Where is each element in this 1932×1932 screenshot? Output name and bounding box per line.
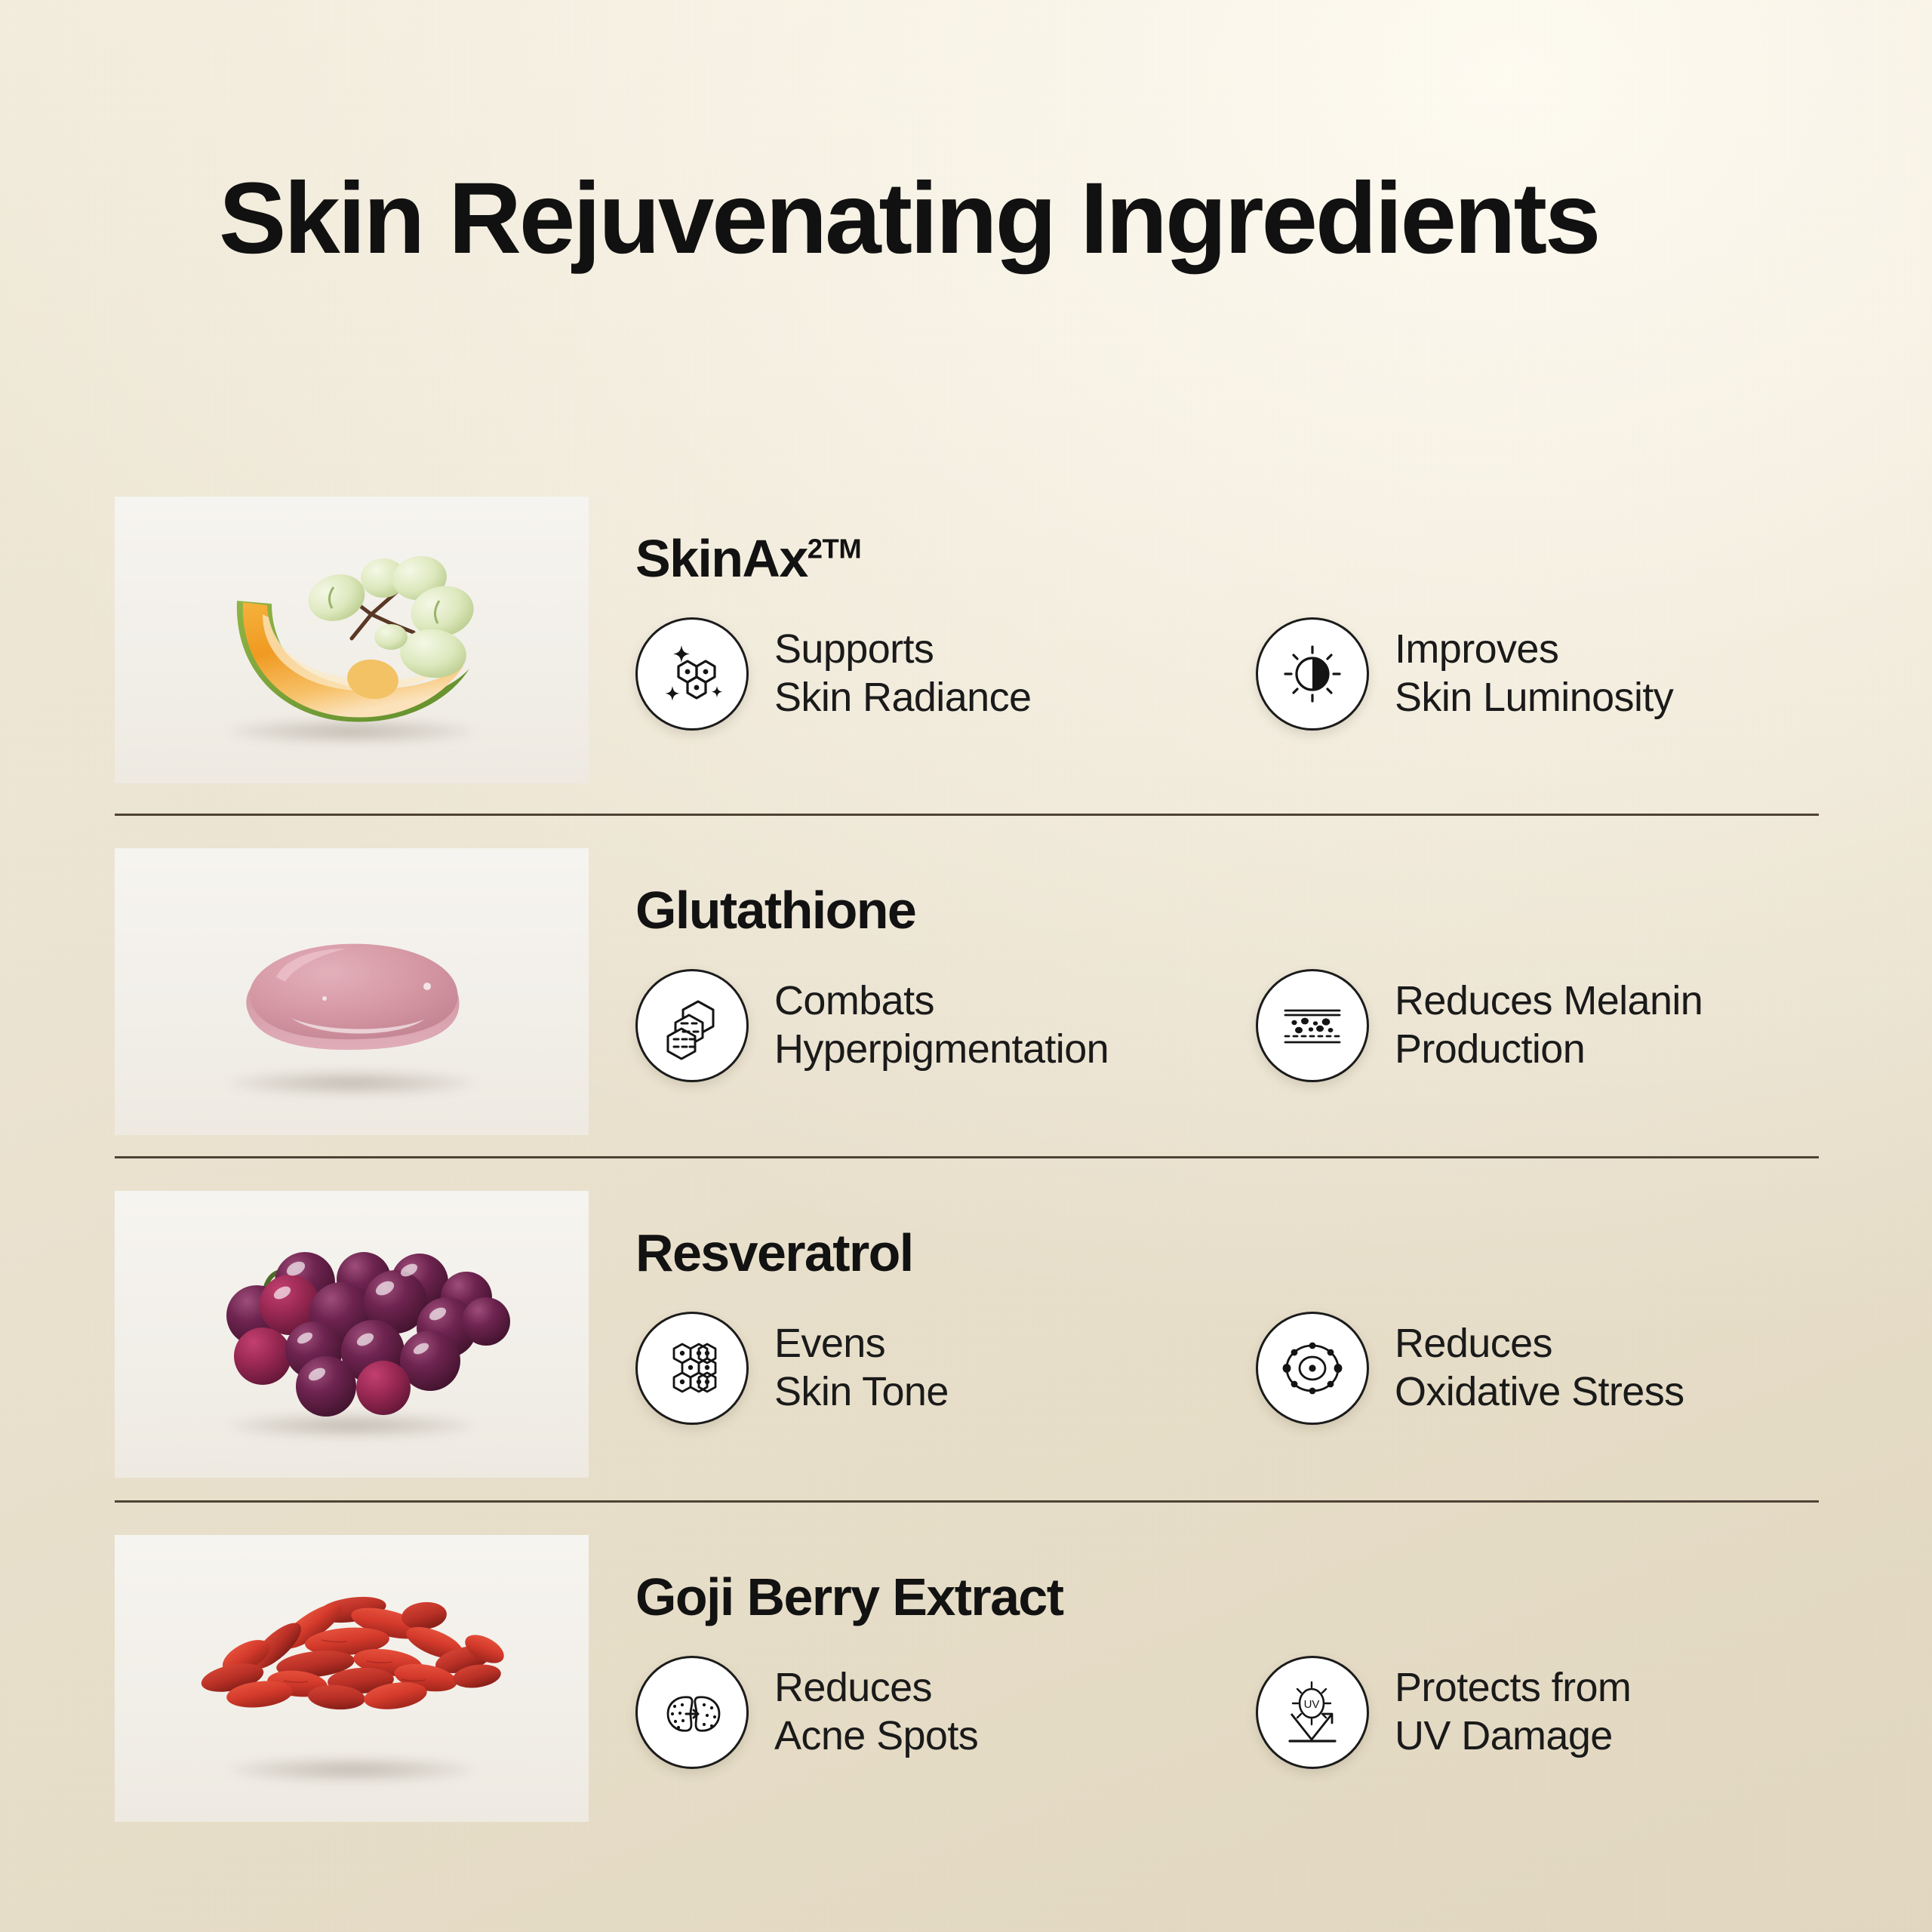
benefit-line-1: Reduces Melanin [1395,978,1703,1023]
ingredient-image-panel [115,1535,589,1822]
benefit-line-1: Improves [1395,626,1558,672]
benefit-line-1: Protects from [1395,1665,1631,1710]
benefit-list: Evens Skin Tone [635,1312,1822,1425]
ingredient-name: Goji Berry Extract [635,1567,1063,1627]
benefit-item: Improves Skin Luminosity [1256,617,1822,731]
skin-layer-melanin-icon [1256,969,1369,1082]
ingredient-image-panel [115,1191,589,1478]
ingredient-row: Goji Berry Extract [115,1535,1822,1822]
row-divider [115,1156,1819,1158]
ingredient-name: Resveratrol [635,1223,913,1283]
ingredient-content: Glutathione [635,848,1822,1135]
benefit-line-2: Oxidative Stress [1395,1368,1684,1417]
ingredient-name-text: Glutathione [635,881,915,940]
ingredient-name: SkinAx2TM [635,528,861,589]
benefit-label: Reduces Acne Spots [774,1664,978,1760]
benefit-label: Combats Hyperpigmentation [774,977,1109,1073]
benefit-label: Reduces Melanin Production [1395,977,1703,1073]
brightness-half-sun-icon [1256,617,1369,731]
benefit-line-1: Evens [774,1321,885,1366]
benefit-item: UV [1256,1656,1822,1769]
benefit-line-2: Skin Tone [774,1368,949,1417]
benefit-label: Reduces Oxidative Stress [1395,1320,1684,1416]
benefit-list: Supports Skin Radiance [635,617,1822,731]
benefit-list: Combats Hyperpigmentation [635,969,1822,1082]
ingredient-content: SkinAx2TM [635,497,1822,783]
ingredient-row: Resveratrol [115,1191,1822,1478]
benefit-list: Reduces Acne Spots UV [635,1656,1822,1769]
page-title: Skin Rejuvenating Ingredients [219,168,1598,271]
benefit-line-1: Reduces [774,1665,932,1710]
benefit-label: Evens Skin Tone [774,1320,949,1416]
honeycomb-grid-icon [635,1312,749,1425]
benefit-item: Combats Hyperpigmentation [635,969,1256,1082]
pink-gel-drop-photo [201,905,503,1078]
row-divider [115,814,1819,816]
benefit-item: Supports Skin Radiance [635,617,1256,731]
benefit-label: Improves Skin Luminosity [1395,626,1673,721]
benefit-line-2: UV Damage [1395,1712,1631,1761]
ingredient-content: Goji Berry Extract [635,1535,1822,1822]
benefit-label: Protects from UV Damage [1395,1664,1631,1760]
ingredient-name-superscript: 2TM [808,534,862,565]
infographic-page: Skin Rejuvenating Ingredients [0,0,1932,1932]
benefit-line-2: Acne Spots [774,1712,978,1761]
benefit-item: Reduces Oxidative Stress [1256,1312,1822,1425]
ingredient-row: SkinAx2TM [115,497,1822,783]
benefit-line-2: Skin Radiance [774,674,1031,722]
dried-goji-berries-photo [186,1584,518,1773]
ingredient-row: Glutathione [115,848,1822,1135]
ingredient-image-panel [115,497,589,783]
uv-shield-sun-icon: UV [1256,1656,1369,1769]
benefit-line-1: Combats [774,978,934,1023]
purple-grape-cluster-photo [193,1232,510,1436]
row-divider [115,1500,1819,1503]
ingredient-name: Glutathione [635,880,915,940]
benefit-line-1: Supports [774,626,934,672]
melon-and-green-grapes-photo [193,542,510,738]
benefit-item: Reduces Acne Spots [635,1656,1256,1769]
benefit-line-2: Skin Luminosity [1395,674,1673,722]
uv-icon-label: UV [1304,1698,1320,1711]
atom-antioxidant-icon [1256,1312,1369,1425]
benefit-item: Evens Skin Tone [635,1312,1256,1425]
benefit-line-1: Reduces [1395,1321,1552,1366]
benefit-label: Supports Skin Radiance [774,626,1031,721]
ingredient-content: Resveratrol [635,1191,1822,1478]
ingredient-name-text: Goji Berry Extract [635,1567,1063,1626]
sparkle-honeycomb-icon [635,617,749,731]
acne-spot-reduction-icon [635,1656,749,1769]
hexagon-cells-pigment-icon [635,969,749,1082]
ingredient-name-text: SkinAx [635,529,808,588]
benefit-line-2: Hyperpigmentation [774,1026,1109,1074]
ingredient-name-text: Resveratrol [635,1223,913,1282]
benefit-item: Reduces Melanin Production [1256,969,1822,1082]
ingredient-image-panel [115,848,589,1135]
benefit-line-2: Production [1395,1026,1703,1074]
